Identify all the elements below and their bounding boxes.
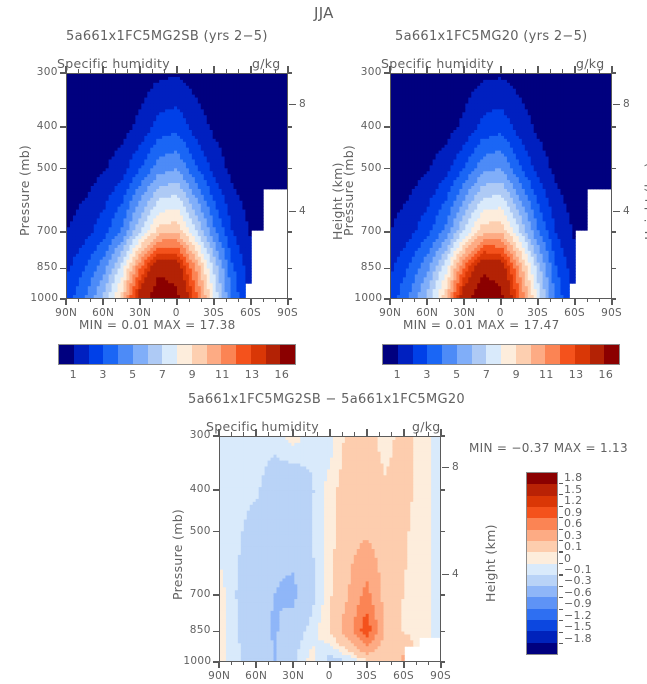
latitude-tick-label: 90S: [601, 307, 622, 319]
colorbar-tick-label: 7: [159, 368, 166, 381]
height-tick: [613, 211, 620, 212]
units-label-top-left: g/kg: [252, 56, 281, 71]
latitude-tick-label: 30N: [453, 307, 475, 319]
colorbar-tick: [559, 609, 563, 610]
colorbar-tick: [559, 517, 563, 518]
height-tick-label: 4: [623, 205, 630, 217]
colorbar-swatch[interactable]: [527, 597, 557, 608]
latitude-tick-label: 60S: [240, 307, 261, 319]
pressure-tick-label: 1000: [354, 292, 382, 304]
pressure-tick: [213, 489, 220, 490]
colorbar-swatch[interactable]: [527, 473, 557, 484]
colorbar-tick: [559, 574, 563, 575]
latitude-minor-tick: [305, 432, 306, 437]
latitude-tick-bottom: [139, 298, 140, 305]
colorbar-swatch[interactable]: [590, 345, 605, 364]
latitude-minor-tick-bottom: [189, 298, 190, 302]
latitude-tick-label: 30S: [527, 307, 548, 319]
latitude-minor-tick: [476, 69, 477, 74]
latitude-minor-tick-bottom: [90, 298, 91, 302]
latitude-minor-tick: [451, 69, 452, 74]
colorbar-swatch[interactable]: [527, 609, 557, 620]
contour-panel-top-left[interactable]: [66, 73, 288, 299]
colorbar-tick: [559, 586, 563, 587]
colorbar-swatch[interactable]: [516, 345, 531, 364]
latitude-minor-tick: [231, 432, 232, 437]
latitude-minor-tick: [488, 69, 489, 74]
pressure-tick-inner: [287, 231, 292, 232]
latitude-tick-bottom: [250, 298, 251, 305]
latitude-tick-top: [611, 66, 612, 74]
colorbar-swatch[interactable]: [575, 345, 590, 364]
height-tick: [289, 211, 296, 212]
pressure-tick-label: 300: [361, 66, 382, 78]
colorbar-swatch[interactable]: [527, 496, 557, 507]
colorbar-swatch[interactable]: [527, 586, 557, 597]
latitude-tick-bottom: [329, 661, 330, 668]
latitude-minor-tick: [416, 432, 417, 437]
latitude-tick-bottom: [255, 661, 256, 668]
pressure-tick-label: 400: [190, 483, 211, 495]
latitude-tick-label: 30S: [356, 670, 377, 682]
pressure-tick-inner: [611, 268, 616, 269]
latitude-minor-tick-bottom: [238, 298, 239, 302]
latitude-minor-tick-bottom: [513, 298, 514, 302]
latitude-tick-top: [292, 429, 293, 437]
latitude-minor-tick-bottom: [451, 298, 452, 302]
colorbar-swatch[interactable]: [604, 345, 619, 364]
colorbar-tick-label: 1: [70, 368, 77, 381]
latitude-tick-bottom: [463, 298, 464, 305]
latitude-minor-tick-bottom: [587, 298, 588, 302]
latitude-minor-tick: [599, 69, 600, 74]
latitude-tick-label: 0: [326, 670, 333, 682]
latitude-minor-tick: [90, 69, 91, 74]
pressure-tick-label: 300: [37, 66, 58, 78]
latitude-minor-tick: [263, 69, 264, 74]
latitude-tick-bottom: [218, 661, 219, 668]
latitude-minor-tick-bottom: [562, 298, 563, 302]
latitude-minor-tick-bottom: [78, 298, 79, 302]
colorbar-swatch[interactable]: [133, 345, 148, 364]
pressure-tick-label: 500: [37, 162, 58, 174]
colorbar-tick: [559, 563, 563, 564]
colorbar-swatch[interactable]: [531, 345, 546, 364]
colorbar-tick: [559, 529, 563, 530]
colorbar-tick-label: 5: [129, 368, 136, 381]
height-tick-label: 8: [452, 461, 459, 473]
pressure-tick-label: 1000: [30, 292, 58, 304]
latitude-tick-label: 30N: [129, 307, 151, 319]
latitude-tick-label: 30N: [282, 670, 304, 682]
colorbar-swatch[interactable]: [427, 345, 442, 364]
latitude-tick-bottom: [537, 298, 538, 305]
latitude-minor-tick: [513, 69, 514, 74]
latitude-minor-tick: [164, 69, 165, 74]
colorbar-swatch[interactable]: [118, 345, 133, 364]
latitude-tick-top: [366, 429, 367, 437]
latitude-minor-tick: [243, 432, 244, 437]
latitude-minor-tick: [275, 69, 276, 74]
latitude-tick-bottom: [102, 298, 103, 305]
pressure-tick-inner: [611, 126, 616, 127]
latitude-tick-bottom: [426, 298, 427, 305]
colorbar-tick-label: 13: [245, 368, 260, 381]
latitude-minor-tick: [562, 69, 563, 74]
pressure-tick-inner: [440, 594, 445, 595]
latitude-minor-tick: [550, 69, 551, 74]
latitude-minor-tick-bottom: [402, 298, 403, 302]
latitude-tick-top: [537, 66, 538, 74]
latitude-minor-tick: [391, 432, 392, 437]
latitude-minor-tick: [127, 69, 128, 74]
latitude-minor-tick: [226, 69, 227, 74]
height-tick-label: 4: [299, 205, 306, 217]
latitude-tick-top: [500, 66, 501, 74]
stats-top-right: MIN = 0.01 MAX = 17.47: [403, 318, 560, 332]
latitude-tick-top: [440, 429, 441, 437]
height-tick: [289, 104, 296, 105]
latitude-tick-top: [389, 66, 390, 74]
latitude-tick-label: 90N: [379, 307, 401, 319]
colorbar-tick-label: 7: [483, 368, 490, 381]
latitude-tick-top: [65, 66, 66, 74]
pressure-tick: [384, 168, 391, 169]
latitude-tick-label: 0: [173, 307, 180, 319]
pressure-axis-label-difference: Pressure (mb): [170, 509, 185, 600]
latitude-minor-tick: [379, 432, 380, 437]
panel-title-difference: 5a661x1FC5MG2SB − 5a661x1FC5MG20: [188, 392, 465, 407]
stats-difference: MIN = −0.37 MAX = 1.13: [469, 441, 628, 455]
latitude-minor-tick: [354, 432, 355, 437]
contour-fill-top-left: [67, 74, 287, 298]
latitude-minor-tick-bottom: [354, 661, 355, 665]
colorbar-swatch[interactable]: [527, 564, 557, 575]
latitude-tick-bottom: [574, 298, 575, 305]
colorbar-tick: [559, 597, 563, 598]
units-label-top-right: g/kg: [576, 56, 605, 71]
colorbar-tick-label: 13: [569, 368, 584, 381]
latitude-minor-tick-bottom: [391, 661, 392, 665]
pressure-tick-label: 700: [361, 225, 382, 237]
figure-season-title: JJA: [314, 4, 334, 22]
latitude-tick-top: [463, 66, 464, 74]
pressure-tick: [60, 168, 67, 169]
height-tick: [613, 104, 620, 105]
latitude-minor-tick: [201, 69, 202, 74]
pressure-tick: [60, 231, 67, 232]
pressure-tick-label: 850: [190, 624, 211, 636]
colorbar-swatch[interactable]: [383, 345, 398, 364]
latitude-minor-tick-bottom: [127, 298, 128, 302]
latitude-tick-top: [426, 66, 427, 74]
colorbar-swatch[interactable]: [266, 345, 281, 364]
latitude-tick-top: [176, 66, 177, 74]
colorbar-swatch[interactable]: [251, 345, 266, 364]
latitude-minor-tick: [268, 432, 269, 437]
latitude-minor-tick-bottom: [152, 298, 153, 302]
colorbar-swatch[interactable]: [527, 518, 557, 529]
colorbar-tick: [559, 620, 563, 621]
latitude-minor-tick: [189, 69, 190, 74]
colorbar-tick-label: 11: [215, 368, 230, 381]
pressure-tick-label: 500: [190, 525, 211, 537]
colorbar-tick-label: 16: [599, 368, 614, 381]
latitude-minor-tick-bottom: [599, 298, 600, 302]
latitude-minor-tick-bottom: [476, 298, 477, 302]
latitude-minor-tick: [317, 432, 318, 437]
pressure-tick-label: 850: [361, 261, 382, 273]
colorbar-swatch[interactable]: [527, 643, 557, 654]
pressure-tick: [60, 126, 67, 127]
colorbar-swatch[interactable]: [177, 345, 192, 364]
latitude-minor-tick: [115, 69, 116, 74]
latitude-minor-tick: [78, 69, 79, 74]
latitude-minor-tick-bottom: [275, 298, 276, 302]
colorbar-swatch[interactable]: [207, 345, 222, 364]
pressure-tick-inner: [440, 631, 445, 632]
colorbar-swatch[interactable]: [545, 345, 560, 364]
colorbar-swatch[interactable]: [280, 345, 295, 364]
colorbar-tick-label: −1.8: [564, 632, 592, 645]
colorbar-tick: [559, 483, 563, 484]
colorbar-tick-label: 9: [189, 368, 196, 381]
pressure-tick-inner: [440, 531, 445, 532]
colorbar-swatch[interactable]: [59, 345, 74, 364]
colorbar-swatch[interactable]: [442, 345, 457, 364]
latitude-minor-tick-bottom: [226, 298, 227, 302]
latitude-tick-top: [403, 429, 404, 437]
pressure-axis-label-right: Pressure (mb): [341, 145, 356, 236]
pressure-tick-label: 300: [190, 429, 211, 441]
colorbar-tick: [559, 506, 563, 507]
latitude-tick-bottom: [403, 661, 404, 668]
latitude-tick-label: 30S: [203, 307, 224, 319]
colorbar-swatch[interactable]: [501, 345, 516, 364]
latitude-tick-label: 60S: [564, 307, 585, 319]
latitude-minor-tick: [428, 432, 429, 437]
latitude-tick-label: 60S: [393, 670, 414, 682]
pressure-tick-label: 700: [190, 588, 211, 600]
pressure-tick-inner: [440, 489, 445, 490]
latitude-minor-tick: [238, 69, 239, 74]
colorbar-swatch[interactable]: [457, 345, 472, 364]
latitude-tick-label: 0: [497, 307, 504, 319]
latitude-tick-top: [102, 66, 103, 74]
pressure-tick-inner: [611, 231, 616, 232]
colorbar-swatch[interactable]: [103, 345, 118, 364]
latitude-minor-tick: [402, 69, 403, 74]
latitude-tick-label: 60N: [92, 307, 114, 319]
pressure-tick: [384, 231, 391, 232]
latitude-minor-tick-bottom: [164, 298, 165, 302]
colorbar-tick: [559, 632, 563, 633]
colorbar-swatch[interactable]: [89, 345, 104, 364]
pressure-tick-label: 500: [361, 162, 382, 174]
colorbar-tick-label: 11: [539, 368, 554, 381]
latitude-tick-bottom: [287, 298, 288, 305]
latitude-tick-bottom: [611, 298, 612, 305]
latitude-minor-tick-bottom: [379, 661, 380, 665]
latitude-minor-tick: [152, 69, 153, 74]
latitude-tick-bottom: [440, 661, 441, 668]
latitude-tick-bottom: [213, 298, 214, 305]
latitude-tick-top: [574, 66, 575, 74]
contour-fill-difference: [220, 437, 440, 661]
pressure-tick-label: 700: [37, 225, 58, 237]
colorbar-swatch[interactable]: [560, 345, 575, 364]
contour-panel-top-right[interactable]: [390, 73, 612, 299]
colorbar-swatch[interactable]: [192, 345, 207, 364]
latitude-minor-tick-bottom: [488, 298, 489, 302]
latitude-minor-tick-bottom: [115, 298, 116, 302]
colorbar-swatch[interactable]: [413, 345, 428, 364]
latitude-tick-label: 90N: [55, 307, 77, 319]
latitude-minor-tick-bottom: [525, 298, 526, 302]
latitude-tick-bottom: [500, 298, 501, 305]
colorbar-swatch[interactable]: [148, 345, 163, 364]
pressure-tick-inner: [287, 126, 292, 127]
latitude-tick-top: [329, 429, 330, 437]
colorbar-swatch[interactable]: [221, 345, 236, 364]
latitude-tick-label: 90S: [430, 670, 451, 682]
colorbar-absolute-top-right[interactable]: [382, 344, 620, 365]
latitude-tick-top: [250, 66, 251, 74]
latitude-tick-top: [255, 429, 256, 437]
colorbar-swatch[interactable]: [527, 552, 557, 563]
latitude-minor-tick-bottom: [243, 661, 244, 665]
colorbar-tick-label: 9: [513, 368, 520, 381]
pressure-tick-label: 1000: [183, 655, 211, 667]
pressure-tick: [384, 126, 391, 127]
colorbar-swatch[interactable]: [527, 631, 557, 642]
latitude-tick-label: 60N: [416, 307, 438, 319]
latitude-minor-tick: [587, 69, 588, 74]
colorbar-tick: [559, 643, 563, 644]
panel-title-top-right: 5a661x1FC5MG20 (yrs 2−5): [395, 29, 588, 44]
height-tick-label: 8: [623, 98, 630, 110]
colorbar-swatch[interactable]: [162, 345, 177, 364]
colorbar-tick-label: 5: [453, 368, 460, 381]
pressure-tick-inner: [611, 168, 616, 169]
colorbar-swatch[interactable]: [527, 484, 557, 495]
latitude-minor-tick: [414, 69, 415, 74]
latitude-minor-tick: [439, 69, 440, 74]
colorbar-swatch[interactable]: [527, 530, 557, 541]
variable-label-top-left: Specific humidity: [57, 56, 170, 71]
latitude-minor-tick-bottom: [550, 298, 551, 302]
latitude-minor-tick-bottom: [428, 661, 429, 665]
colorbar-swatch[interactable]: [236, 345, 251, 364]
latitude-minor-tick-bottom: [317, 661, 318, 665]
contour-panel-difference[interactable]: [219, 436, 441, 662]
latitude-tick-label: 90N: [208, 670, 230, 682]
colorbar-swatch[interactable]: [527, 507, 557, 518]
colorbar-swatch[interactable]: [527, 541, 557, 552]
colorbar-tick-label: 3: [423, 368, 430, 381]
latitude-minor-tick-bottom: [263, 298, 264, 302]
pressure-tick: [213, 594, 220, 595]
latitude-minor-tick-bottom: [201, 298, 202, 302]
height-axis-label-top-right: Height (km): [642, 162, 647, 240]
pressure-axis-label-left: Pressure (mb): [17, 145, 32, 236]
latitude-minor-tick: [280, 432, 281, 437]
latitude-tick-bottom: [176, 298, 177, 305]
colorbar-tick: [559, 551, 563, 552]
height-tick: [442, 467, 449, 468]
pressure-tick: [384, 268, 391, 269]
latitude-tick-bottom: [65, 298, 66, 305]
colorbar-tick-label: 3: [99, 368, 106, 381]
colorbar-swatch[interactable]: [527, 575, 557, 586]
latitude-tick-bottom: [366, 661, 367, 668]
latitude-tick-top: [218, 429, 219, 437]
height-tick: [442, 574, 449, 575]
latitude-minor-tick-bottom: [268, 661, 269, 665]
colorbar-tick-label: 16: [275, 368, 290, 381]
latitude-minor-tick-bottom: [280, 661, 281, 665]
latitude-minor-tick-bottom: [305, 661, 306, 665]
colorbar-tick: [559, 494, 563, 495]
latitude-tick-bottom: [389, 298, 390, 305]
panel-title-top-left: 5a661x1FC5MG2SB (yrs 2−5): [66, 29, 268, 44]
latitude-tick-top: [213, 66, 214, 74]
height-tick-label: 8: [299, 98, 306, 110]
latitude-tick-label: 90S: [277, 307, 298, 319]
pressure-tick-label: 850: [37, 261, 58, 273]
stats-top-left: MIN = 0.01 MAX = 17.38: [79, 318, 236, 332]
colorbar-swatch[interactable]: [398, 345, 413, 364]
colorbar-difference[interactable]: [526, 472, 558, 655]
latitude-minor-tick-bottom: [231, 661, 232, 665]
colorbar-swatch[interactable]: [527, 620, 557, 631]
latitude-minor-tick-bottom: [439, 298, 440, 302]
colorbar-swatch[interactable]: [74, 345, 89, 364]
pressure-tick: [213, 531, 220, 532]
contour-fill-top-right: [391, 74, 611, 298]
latitude-minor-tick: [342, 432, 343, 437]
latitude-tick-bottom: [292, 661, 293, 668]
colorbar-tick-label: 1: [394, 368, 401, 381]
height-tick-label: 4: [452, 568, 459, 580]
variable-label-difference: Specific humidity: [206, 419, 319, 434]
colorbar-swatch[interactable]: [472, 345, 487, 364]
latitude-minor-tick-bottom: [416, 661, 417, 665]
pressure-tick-label: 400: [37, 120, 58, 132]
latitude-tick-top: [287, 66, 288, 74]
latitude-minor-tick: [525, 69, 526, 74]
latitude-minor-tick-bottom: [414, 298, 415, 302]
variable-label-top-right: Specific humidity: [381, 56, 494, 71]
latitude-tick-label: 60N: [245, 670, 267, 682]
colorbar-swatch[interactable]: [486, 345, 501, 364]
height-axis-label-difference: Height (km): [483, 524, 498, 602]
latitude-minor-tick-bottom: [342, 661, 343, 665]
colorbar-absolute-top-left[interactable]: [58, 344, 296, 365]
pressure-tick-inner: [287, 168, 292, 169]
colorbar-tick: [559, 540, 563, 541]
pressure-tick: [60, 268, 67, 269]
latitude-tick-top: [139, 66, 140, 74]
pressure-tick-label: 400: [361, 120, 382, 132]
pressure-tick: [213, 631, 220, 632]
pressure-tick-inner: [287, 268, 292, 269]
